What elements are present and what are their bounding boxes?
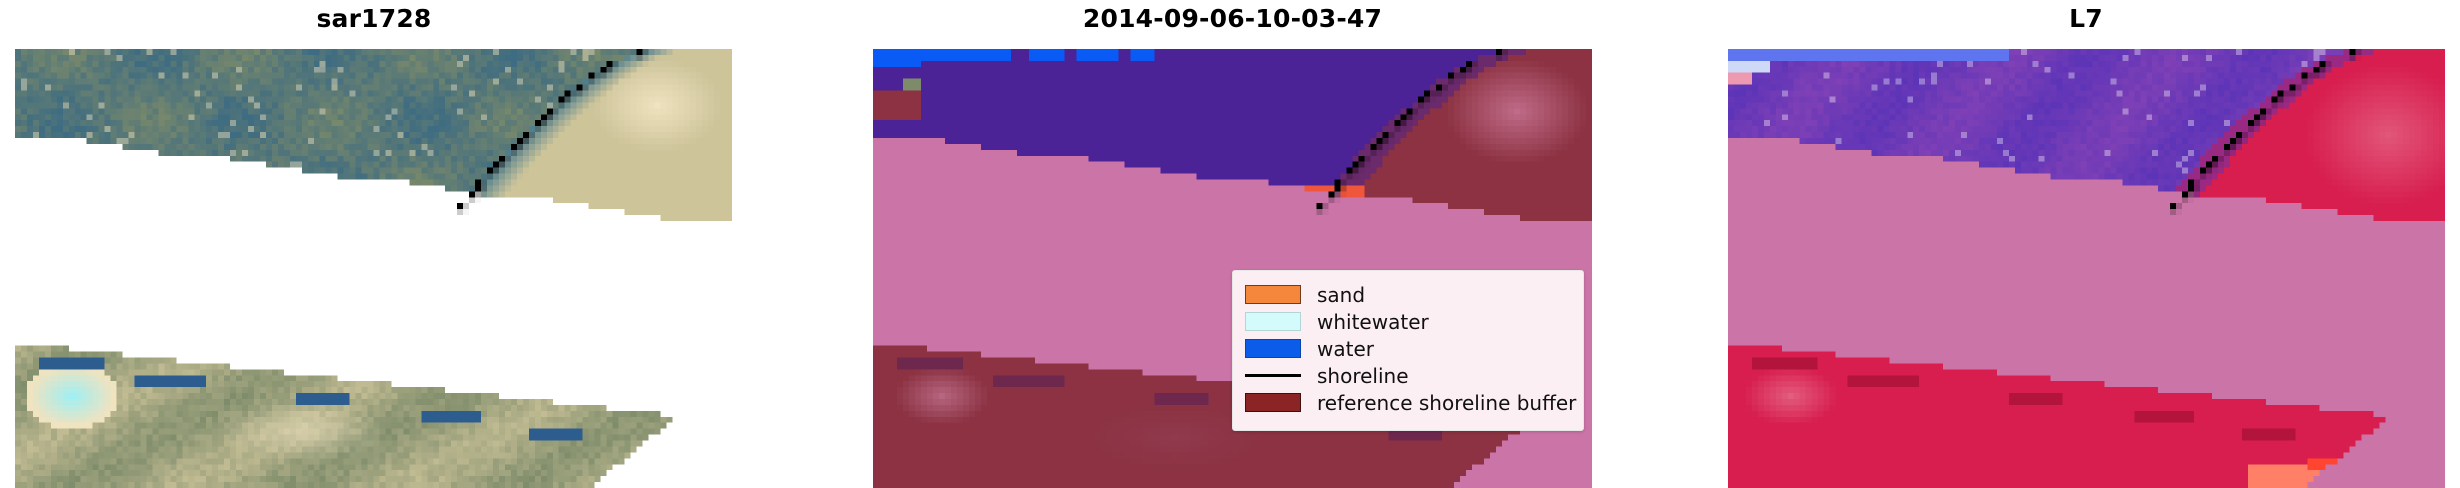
legend-swatch-reference-shoreline-buffer	[1245, 393, 1301, 412]
legend-swatch-shoreline	[1245, 374, 1301, 377]
legend-item-reference-shoreline-buffer: reference shoreline buffer	[1245, 389, 1569, 416]
legend-label-shoreline: shoreline	[1317, 366, 1409, 386]
legend: sand whitewater water shoreline referenc…	[1232, 270, 1584, 431]
raster-l7	[1728, 49, 2445, 488]
panel-title-left: sar1728	[0, 4, 748, 34]
legend-swatch-sand	[1245, 285, 1301, 304]
legend-swatch-water	[1245, 339, 1301, 358]
figure-root: sar1728 2014-09-06-10-03-47 L7 sand	[0, 0, 2460, 488]
legend-label-sand: sand	[1317, 285, 1365, 305]
legend-item-shoreline: shoreline	[1245, 362, 1569, 389]
panel-l7: L7	[1712, 0, 2460, 488]
raster-sar1728	[15, 49, 732, 488]
legend-item-water: water	[1245, 335, 1569, 362]
panel-title-center: 2014-09-06-10-03-47	[855, 4, 1610, 34]
legend-item-whitewater: whitewater	[1245, 308, 1569, 335]
panel-sar1728: sar1728	[0, 0, 748, 488]
legend-swatch-whitewater	[1245, 312, 1301, 331]
legend-label-reference-shoreline-buffer: reference shoreline buffer	[1317, 393, 1576, 413]
axes-right	[1728, 49, 2445, 488]
panel-title-right: L7	[1712, 4, 2460, 34]
legend-label-whitewater: whitewater	[1317, 312, 1429, 332]
legend-item-sand: sand	[1245, 281, 1569, 308]
legend-label-water: water	[1317, 339, 1374, 359]
axes-left	[15, 49, 732, 488]
